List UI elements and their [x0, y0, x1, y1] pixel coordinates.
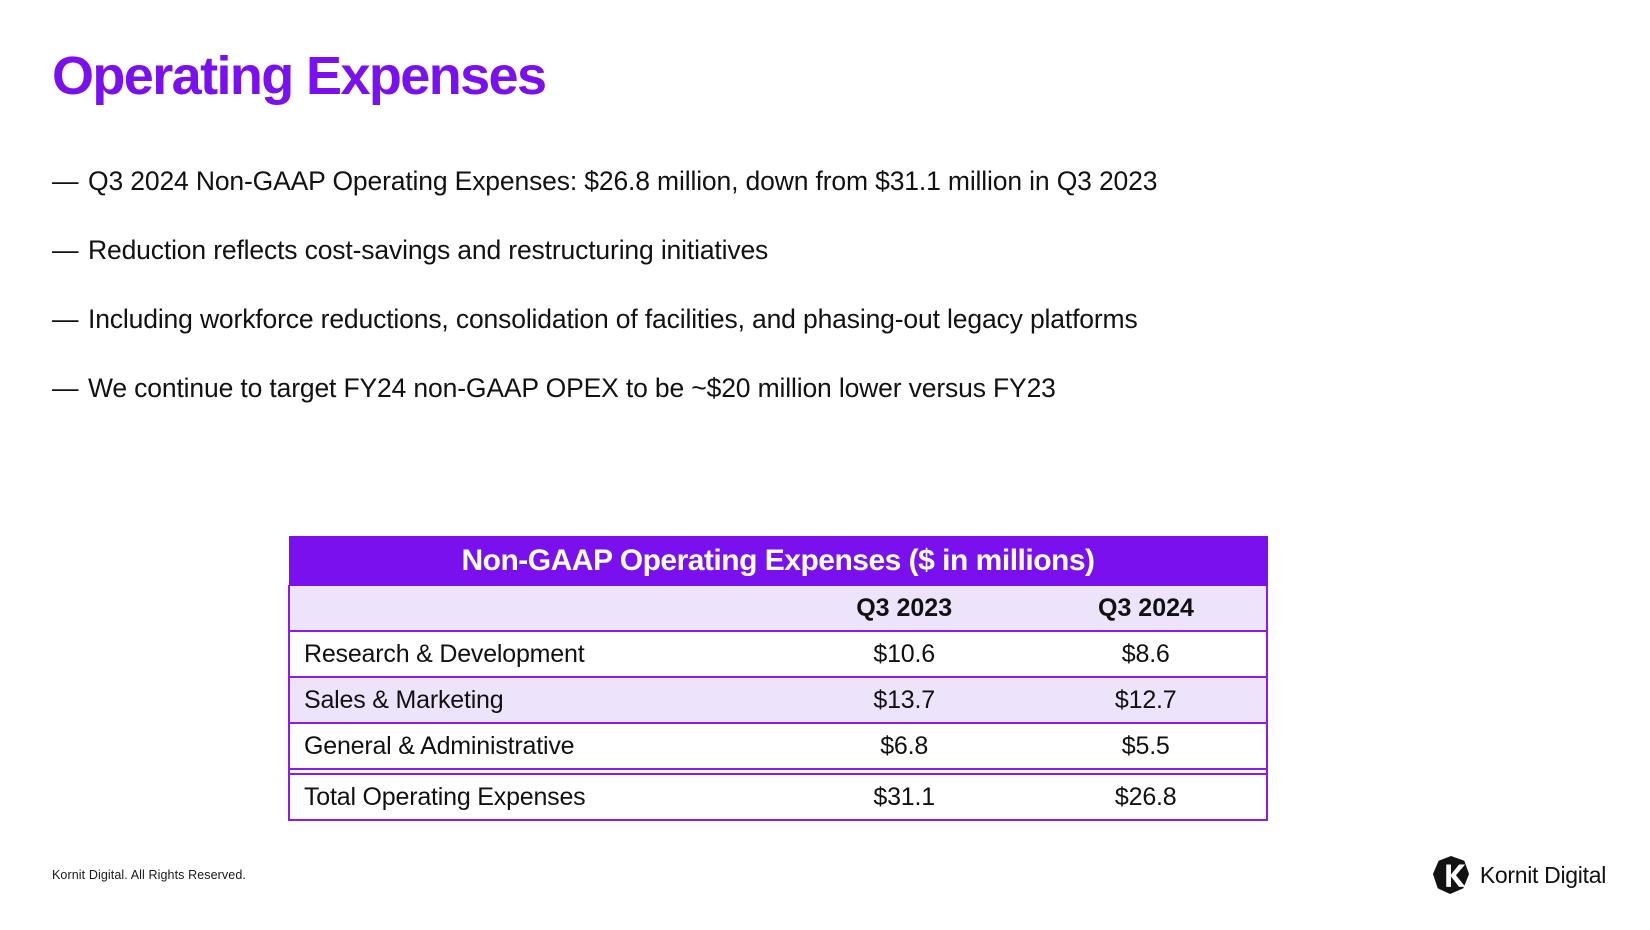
- column-header-blank: [289, 586, 783, 632]
- list-item: — Q3 2024 Non-GAAP Operating Expenses: $…: [52, 165, 1592, 198]
- bullet-text: We continue to target FY24 non-GAAP OPEX…: [88, 372, 1592, 405]
- cell-q3-2024: $12.7: [1025, 677, 1267, 723]
- bullet-text: Reduction reflects cost-savings and rest…: [88, 234, 1592, 267]
- cell-q3-2023: $10.6: [783, 631, 1026, 677]
- bullet-dash-icon: —: [52, 165, 88, 198]
- row-label: General & Administrative: [289, 723, 783, 769]
- column-header-q3-2023: Q3 2023: [783, 586, 1026, 632]
- page-title: Operating Expenses: [52, 48, 545, 105]
- table-row: Research & Development $10.6 $8.6: [289, 631, 1267, 677]
- list-item: — Reduction reflects cost-savings and re…: [52, 234, 1592, 267]
- column-header-q3-2024: Q3 2024: [1025, 586, 1267, 632]
- cell-q3-2024: $5.5: [1025, 723, 1267, 769]
- bullet-dash-icon: —: [52, 372, 88, 405]
- cell-q3-2023: $13.7: [783, 677, 1026, 723]
- row-label: Sales & Marketing: [289, 677, 783, 723]
- bullet-dash-icon: —: [52, 234, 88, 267]
- cell-q3-2024: $8.6: [1025, 631, 1267, 677]
- kornit-logo-icon: [1432, 855, 1470, 895]
- row-label: Total Operating Expenses: [289, 774, 783, 820]
- table-row-total: Total Operating Expenses $31.1 $26.8: [289, 774, 1267, 820]
- opex-table-container: Non-GAAP Operating Expenses ($ in millio…: [288, 536, 1268, 821]
- cell-q3-2023: $31.1: [783, 774, 1026, 820]
- table-row: Sales & Marketing $13.7 $12.7: [289, 677, 1267, 723]
- brand-logo: Kornit Digital: [1432, 855, 1606, 895]
- table-row: General & Administrative $6.8 $5.5: [289, 723, 1267, 769]
- table-title: Non-GAAP Operating Expenses ($ in millio…: [289, 537, 1267, 586]
- row-label: Research & Development: [289, 631, 783, 677]
- opex-table: Non-GAAP Operating Expenses ($ in millio…: [288, 536, 1268, 821]
- table-header-row: Q3 2023 Q3 2024: [289, 586, 1267, 632]
- brand-name: Kornit Digital: [1480, 862, 1606, 889]
- list-item: — Including workforce reductions, consol…: [52, 303, 1592, 336]
- bullet-text: Q3 2024 Non-GAAP Operating Expenses: $26…: [88, 165, 1592, 198]
- bullet-dash-icon: —: [52, 303, 88, 336]
- cell-q3-2023: $6.8: [783, 723, 1026, 769]
- footer-copyright: Kornit Digital. All Rights Reserved.: [52, 868, 246, 882]
- cell-q3-2024: $26.8: [1025, 774, 1267, 820]
- list-item: — We continue to target FY24 non-GAAP OP…: [52, 372, 1592, 405]
- table-title-row: Non-GAAP Operating Expenses ($ in millio…: [289, 537, 1267, 586]
- bullet-text: Including workforce reductions, consolid…: [88, 303, 1592, 336]
- bullet-list: — Q3 2024 Non-GAAP Operating Expenses: $…: [52, 165, 1592, 442]
